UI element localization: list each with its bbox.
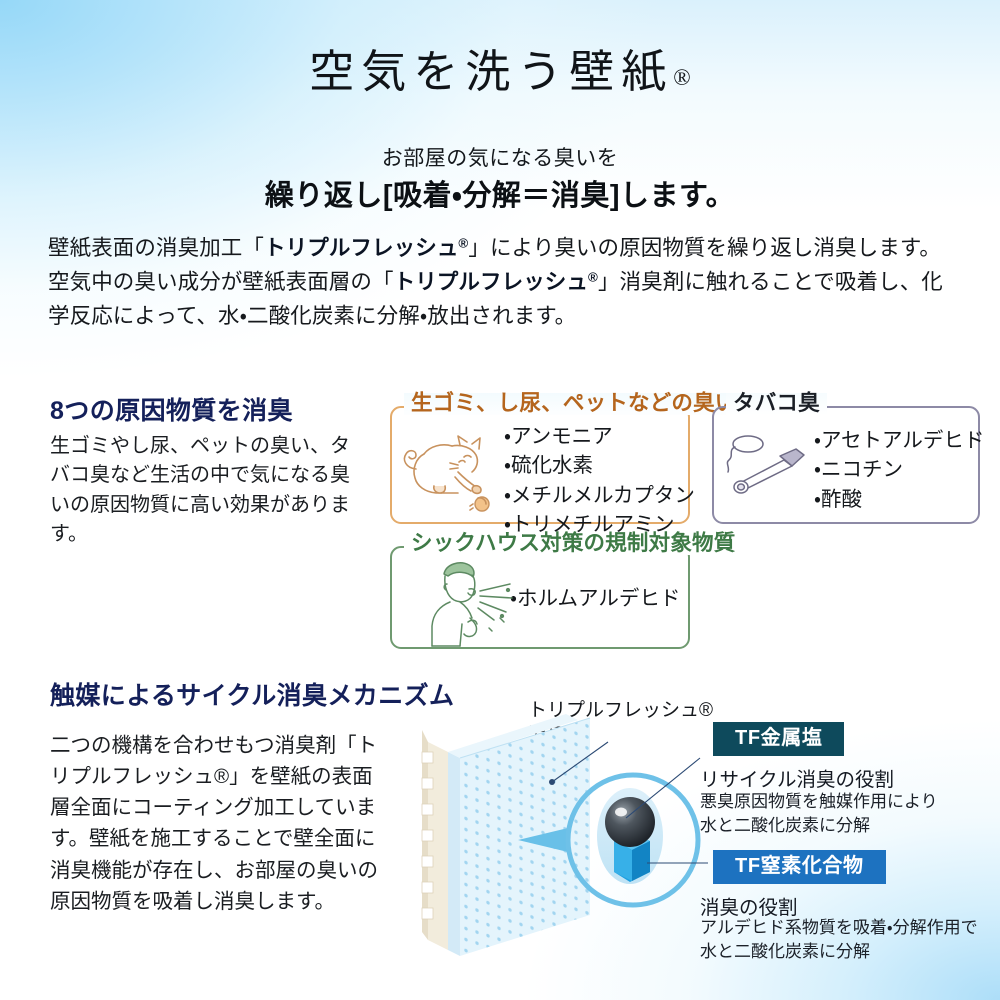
tf-nitrogen-desc-line-2: 水と二酸化炭素に分解 [700,940,978,964]
tf-metal-salt-sphere-icon [605,797,655,847]
tf-nitrogen-compound-description: アルデヒド系物質を吸着・分解作用で 水と二酸化炭素に分解 [700,916,978,964]
page-title: 空気を洗う壁紙® [0,48,1000,98]
subtitle-line-2: 繰り返し[吸着・分解＝消臭]します。 [0,172,1000,214]
cat-playing-icon [400,424,505,514]
chemical-item: ・酢酸 [814,485,984,514]
lead-reg-2: ® [588,270,598,285]
section-body-odor: 生ゴミやし尿、ペットの臭い、タバコ臭など生活の中で気になる臭いの原因物質に高い効… [50,432,360,550]
chemical-item: ・メチルメルカプタン [504,481,695,510]
infographic-page: 空気を洗う壁紙® お部屋の気になる臭いを 繰り返し[吸着・分解＝消臭]します。 … [0,0,1000,1000]
lead-part-1: 壁紙表面の消臭加工「 [48,236,264,260]
lead-paragraph: 壁紙表面の消臭加工「トリプルフレッシュ®」により臭いの原因物質を繰り返し消臭しま… [48,232,960,334]
cigarette-icon [722,432,810,502]
tf-metal-salt-badge: TF金属塩 [713,722,844,756]
tf-nitrogen-compound-badge: TF窒素化合物 [713,850,886,884]
odor-box-tobacco-legend: タバコ臭 [726,393,827,415]
tf-metal-salt-description: 悪臭原因物質を触媒作用により 水と二酸化炭素に分解 [700,790,938,838]
chemical-item: ・アンモニア [504,422,695,451]
section-body-mechanism: 二つの機構を合わせもつ消臭剤「トリプルフレッシュ®」を壁紙の表面層全面にコーティ… [50,730,380,917]
tf-nitrogen-desc-line-1: アルデヒド系物質を吸着・分解作用で [700,916,978,940]
odor-box-waste-legend: 生ゴミ、し尿、ペットなどの臭い [404,393,744,415]
lead-brand-1: トリプルフレッシュ [264,236,458,260]
odor-box-waste-chemical-list: ・アンモニア ・硫化水素 ・メチルメルカプタン ・トリメチルアミン [504,422,695,539]
registered-trademark-mark: ® [673,65,690,90]
odor-box-sickhouse-legend: シックハウス対策の規制対象物質 [404,533,742,555]
chemical-item: ・硫化水素 [504,451,695,480]
lead-brand-2: トリプルフレッシュ [394,270,588,294]
page-title-text: 空気を洗う壁紙 [309,47,673,97]
tf-metal-salt-desc-line-1: 悪臭原因物質を触媒作用により [700,790,938,814]
coughing-person-icon [420,556,516,648]
tf-metal-salt-role: リサイクル消臭の役割 [700,763,894,792]
subtitle-line-1: お部屋の気になる臭いを [0,142,1000,172]
odor-box-tobacco-chemical-list: ・アセトアルデヒド ・ニコチン ・酢酸 [814,426,984,514]
chemical-item: ・アセトアルデヒド [814,426,984,455]
wallpaper-cross-section-diagram [418,700,718,962]
chemical-item: ・ニコチン [814,455,984,484]
tf-metal-salt-desc-line-2: 水と二酸化炭素に分解 [700,814,938,838]
odor-box-sickhouse-chemical-list: ・ホルムアルデヒド [510,584,680,613]
wallpaper-backing-layer [422,730,448,950]
lead-reg-1: ® [458,236,468,251]
chemical-item: ・ホルムアルデヒド [510,584,680,613]
section-heading-odor: 8つの原因物質を消臭 [50,391,293,427]
section-heading-mechanism: 触媒によるサイクル消臭メカニズム [50,676,454,712]
